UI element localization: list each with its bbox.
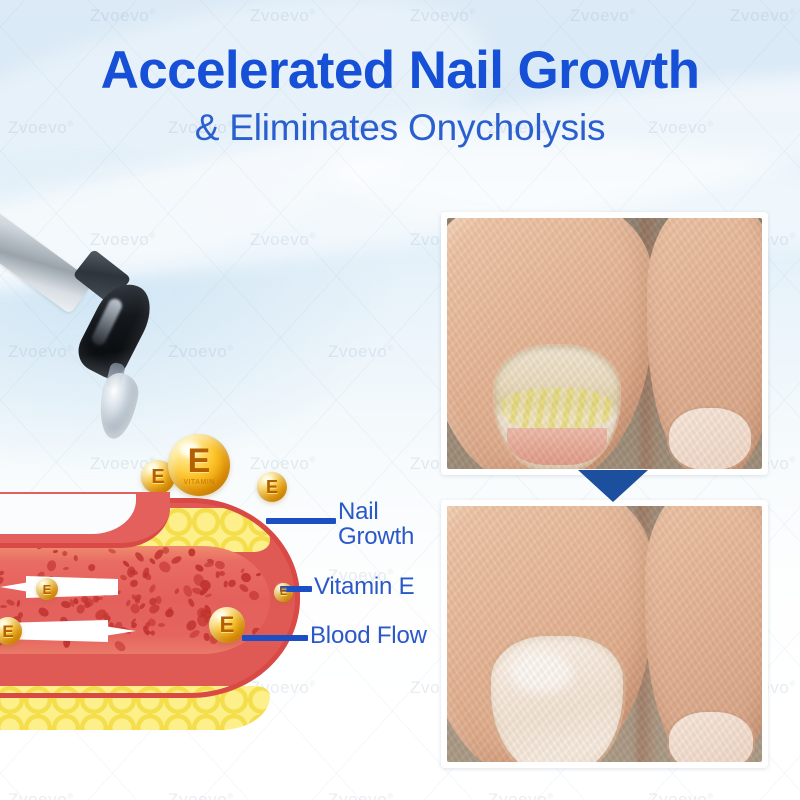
- second-toe-nail: [669, 408, 751, 469]
- brand-watermark: Zvoevo®: [570, 6, 636, 26]
- callout-label-vitamin-e: Vitamin E: [314, 575, 414, 600]
- brand-watermark: Zvoevo®: [410, 6, 476, 26]
- page-title: Accelerated Nail Growth: [0, 44, 800, 98]
- capsule-large: E VITAMIN: [168, 434, 230, 496]
- brush-handle: [0, 179, 94, 314]
- callout-line-blood-flow: [242, 635, 308, 641]
- capsule-letter: E: [266, 478, 278, 496]
- brand-watermark: Zvoevo®: [328, 790, 394, 800]
- healthy-nail-plate: [491, 636, 623, 762]
- serum-applicator-brush: [0, 185, 202, 485]
- after-photo: [441, 500, 768, 768]
- serum-droplet: [95, 370, 142, 441]
- brand-watermark: Zvoevo®: [90, 6, 156, 26]
- callout-line-nail-growth: [266, 518, 336, 524]
- product-poster: Zvoevo®Zvoevo®Zvoevo®Zvoevo®Zvoevo®Zvoev…: [0, 0, 800, 800]
- callout-label-nail-growth: Nail Growth: [338, 500, 414, 550]
- nail-fold-gap: [0, 494, 136, 534]
- capsule-vessel-b: E: [36, 578, 58, 600]
- brand-watermark: Zvoevo®: [8, 790, 74, 800]
- capsule-letter: E: [2, 623, 13, 640]
- capsule-word: VITAMIN: [183, 479, 214, 486]
- callout-label-blood-flow: Blood Flow: [310, 624, 427, 649]
- second-toe-nail: [669, 712, 753, 762]
- capsule-letter: E: [43, 583, 52, 596]
- brand-watermark: Zvoevo®: [488, 790, 554, 800]
- brand-watermark: Zvoevo®: [250, 6, 316, 26]
- capsule-letter: E: [220, 614, 235, 636]
- before-photo: [441, 212, 768, 475]
- capsule-letter: E: [151, 467, 164, 487]
- before-after-arrow: [578, 470, 648, 502]
- nail-bed-cross-section: [0, 498, 340, 738]
- page-subtitle: & Eliminates Onycholysis: [0, 108, 800, 149]
- capsule-letter: E: [188, 444, 211, 478]
- brand-watermark: Zvoevo®: [648, 790, 714, 800]
- capsule-vessel-c: E: [209, 607, 245, 643]
- brand-watermark: Zvoevo®: [168, 790, 234, 800]
- capsule-letter: E: [280, 587, 287, 598]
- damaged-nail-plate: [495, 346, 619, 469]
- brand-watermark: Zvoevo®: [730, 6, 796, 26]
